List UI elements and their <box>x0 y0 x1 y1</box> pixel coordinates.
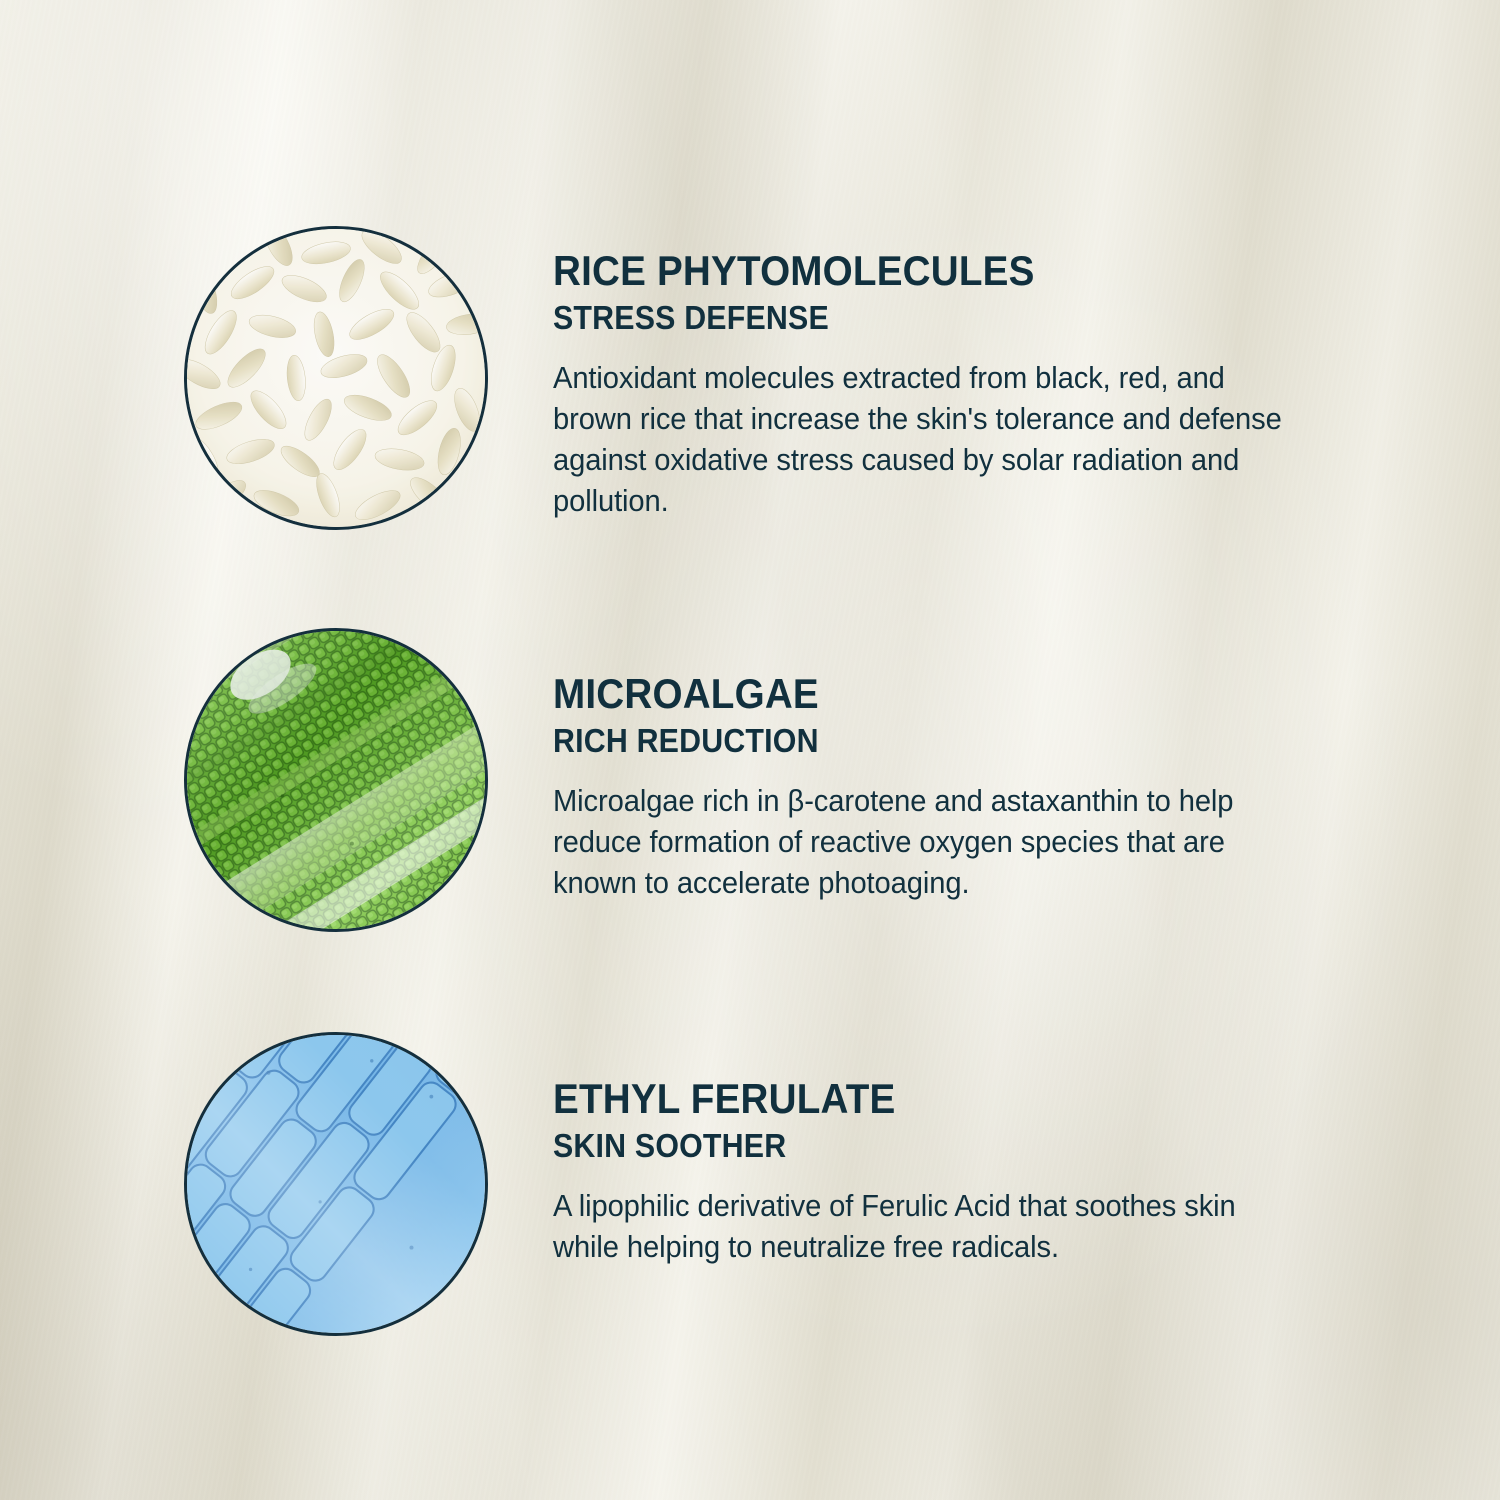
ingredient-subtitle: RICH REDUCTION <box>553 723 1280 759</box>
plant-cells-photo <box>184 1032 488 1336</box>
ingredient-infographic: RICE PHYTOMOLECULES STRESS DEFENSE Antio… <box>0 0 1500 1500</box>
ingredient-subtitle: SKIN SOOTHER <box>553 1128 1280 1164</box>
plant-cells-illustration <box>187 1035 485 1333</box>
rice-grains-photo <box>184 226 488 530</box>
microalgae-cells-photo <box>184 628 488 932</box>
rice-grains-image-frame <box>187 229 485 527</box>
microalgae-illustration <box>187 631 485 929</box>
rice-grains-illustration <box>187 229 485 527</box>
ingredient-description: Microalgae rich in β-carotene and astaxa… <box>553 781 1307 904</box>
microalgae-image-frame <box>187 631 485 929</box>
ingredient-copy-microalgae: MICROALGAE RICH REDUCTION Microalgae ric… <box>553 671 1343 904</box>
ingredient-description: Antioxidant molecules extracted from bla… <box>553 358 1307 522</box>
plant-cells-image-frame <box>187 1035 485 1333</box>
ingredient-description: A lipophilic derivative of Ferulic Acid … <box>553 1186 1307 1268</box>
ingredient-copy-ethyl-ferulate: ETHYL FERULATE SKIN SOOTHER A lipophilic… <box>553 1076 1343 1268</box>
ingredient-copy-rice-phytomolecules: RICE PHYTOMOLECULES STRESS DEFENSE Antio… <box>553 248 1343 522</box>
ingredient-title: RICE PHYTOMOLECULES <box>553 248 1280 294</box>
ingredient-title: ETHYL FERULATE <box>553 1076 1280 1122</box>
ingredient-subtitle: STRESS DEFENSE <box>553 300 1280 336</box>
ingredient-title: MICROALGAE <box>553 671 1280 717</box>
